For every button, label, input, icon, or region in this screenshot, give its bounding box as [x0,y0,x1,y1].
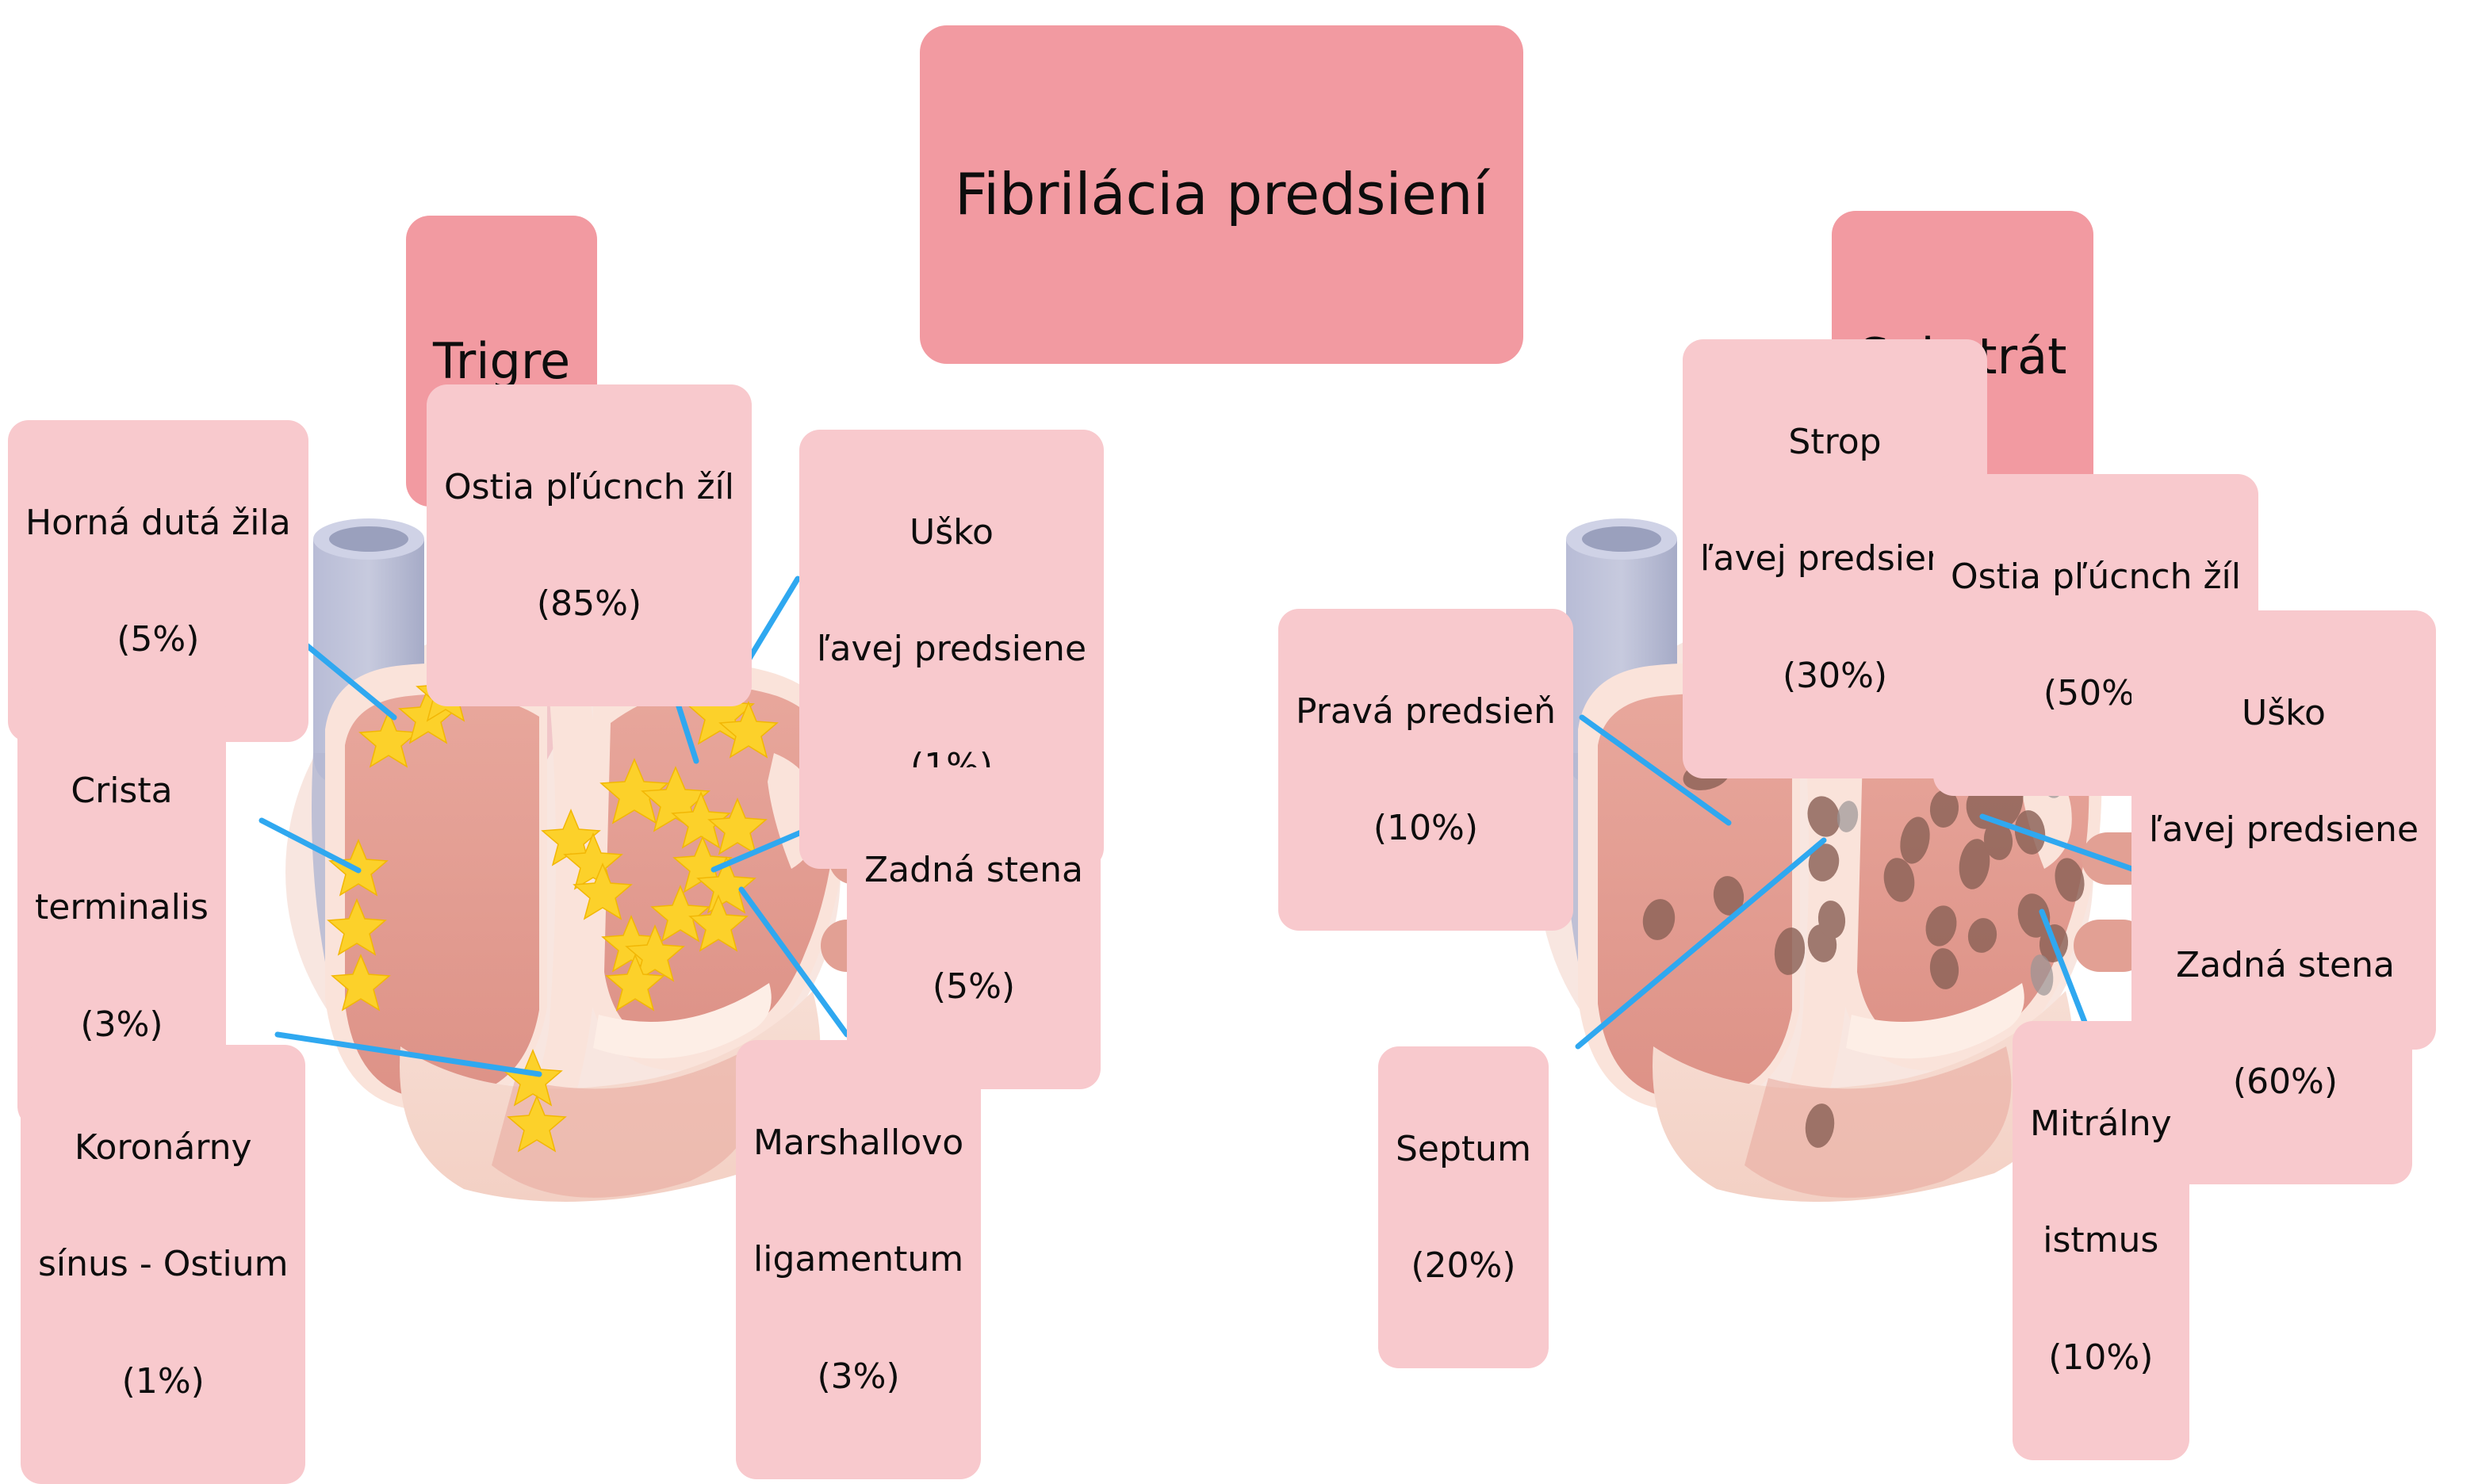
label-mitralny-istmus[interactable]: Mitrálny istmus (10%) [2013,1021,2189,1460]
diagram-canvas: Fibrilácia predsiení Trigre Substrát Hor… [0,0,2478,1239]
label-prava-predsien[interactable]: Pravá predsieň (10%) [1278,609,1573,931]
label-ostia-plucnch-zil-left[interactable]: Ostia pľúcnch žíl (85%) [427,384,752,706]
page-title: Fibrilácia predsiení [920,25,1523,364]
label-koronarny-sinus-ostium[interactable]: Koronárny sínus - Ostium (1%) [21,1045,305,1484]
label-zadna-stena-right[interactable]: Zadná stena (60%) [2158,862,2412,1184]
label-septum[interactable]: Septum (20%) [1378,1046,1549,1368]
label-marshallovo-ligamentum[interactable]: Marshallovo ligamentum (3%) [736,1040,981,1479]
